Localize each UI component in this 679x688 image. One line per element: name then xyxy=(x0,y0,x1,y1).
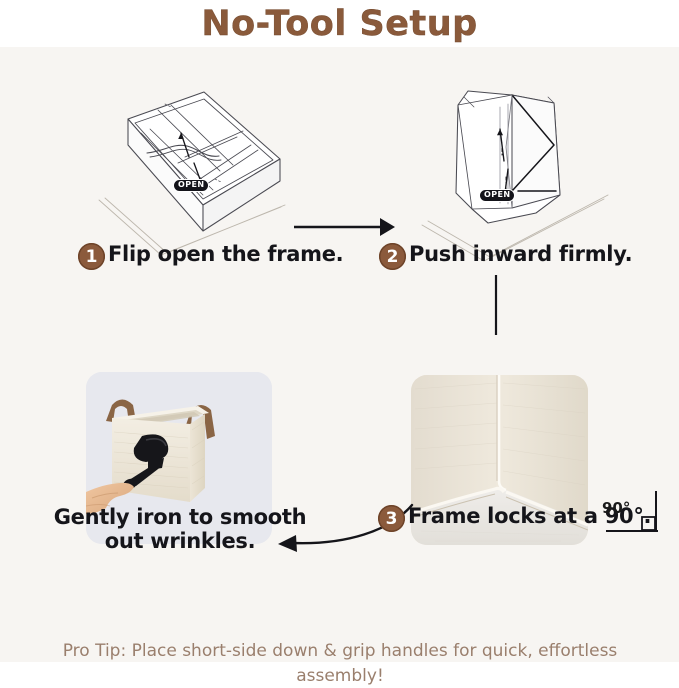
step-1-badge: 1 xyxy=(78,243,105,270)
final-step-caption-line2: out wrinkles. xyxy=(40,530,320,554)
title-band: No-Tool Setup xyxy=(0,0,679,47)
step-2-caption-row: 2 Push inward firmly. xyxy=(379,243,632,270)
open-tag-step-1: OPEN xyxy=(173,179,209,192)
step-1-caption-row: 1 Flip open the frame. xyxy=(78,243,343,270)
open-tag-step-2: OPEN xyxy=(479,189,515,202)
step-2-caption: Push inward firmly. xyxy=(409,243,632,267)
connector-step2-to-step3 xyxy=(493,275,499,335)
step-1-illustration xyxy=(95,77,295,257)
angle-marker-label: 90° xyxy=(602,499,630,517)
step-1-caption: Flip open the frame. xyxy=(108,243,343,267)
step-2-badge: 2 xyxy=(379,243,406,270)
page-title: No-Tool Setup xyxy=(201,4,477,44)
angle-marker: 90° xyxy=(600,491,662,539)
step-2-illustration xyxy=(408,73,623,263)
final-step-caption: Gently iron to smooth out wrinkles. xyxy=(40,506,320,553)
connector-step1-to-step2 xyxy=(292,215,396,239)
step-3-badge: 3 xyxy=(378,505,405,532)
final-step-caption-line1: Gently iron to smooth xyxy=(40,506,320,530)
infographic-canvas: OPEN xyxy=(0,47,679,662)
pro-tip-text: Pro Tip: Place short-side down & grip ha… xyxy=(50,639,630,688)
